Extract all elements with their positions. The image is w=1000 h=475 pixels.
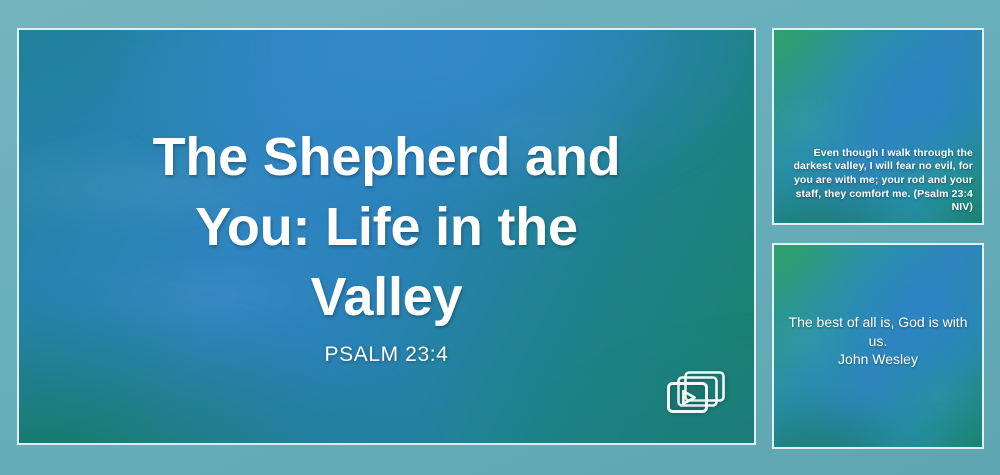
slideshow-play-icon-glyph [665, 369, 727, 417]
presentation-app: The Shepherd and You: Life in the Valley… [0, 0, 1000, 475]
thumbnail-1-body-text: Even though I walk through the darkest v… [783, 147, 973, 215]
thumbnail-2-content: The best of all is, God is with us. John… [774, 245, 982, 447]
thumbnail-1-content: Even though I walk through the darkest v… [774, 30, 982, 223]
slide-thumbnail-1[interactable]: Even though I walk through the darkest v… [772, 28, 984, 225]
slideshow-play-icon[interactable] [665, 369, 727, 417]
main-slide[interactable]: The Shepherd and You: Life in the Valley… [17, 28, 756, 445]
slide-thumbnail-2[interactable]: The best of all is, God is with us. John… [772, 243, 984, 449]
slide-subtitle[interactable]: PSALM 23:4 [325, 343, 449, 367]
main-slide-content: The Shepherd and You: Life in the Valley… [19, 30, 754, 443]
thumbnail-2-body-text: The best of all is, God is with us. John… [788, 313, 968, 369]
slide-title[interactable]: The Shepherd and You: Life in the Valley [107, 122, 667, 333]
